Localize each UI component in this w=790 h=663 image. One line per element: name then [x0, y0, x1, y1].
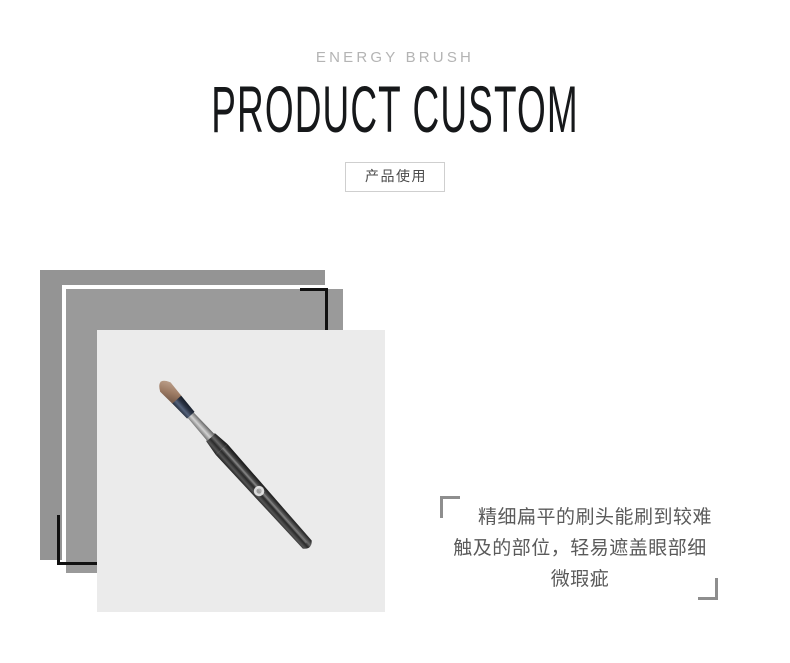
status-badge: 产品使用: [345, 162, 445, 193]
product-detail-page: ENERGY BRUSH PRODUCT CUSTOM 产品使用: [0, 0, 790, 663]
caption-text: 精细扁平的刷头能刷到较难触及的部位，轻易遮盖眼部细微瑕疵: [446, 502, 714, 594]
product-photo: [97, 330, 385, 612]
page-title: PRODUCT CUSTOM: [174, 79, 616, 140]
page-header: ENERGY BRUSH PRODUCT CUSTOM 产品使用: [0, 0, 790, 192]
product-collage: [0, 240, 430, 663]
badge-container: 产品使用: [0, 162, 790, 193]
brush-illustration: [97, 330, 385, 612]
brush-handle: [155, 376, 316, 552]
caption-block: 精细扁平的刷头能刷到较难触及的部位，轻易遮盖眼部细微瑕疵: [430, 480, 760, 630]
header-eyebrow: ENERGY BRUSH: [0, 50, 790, 65]
